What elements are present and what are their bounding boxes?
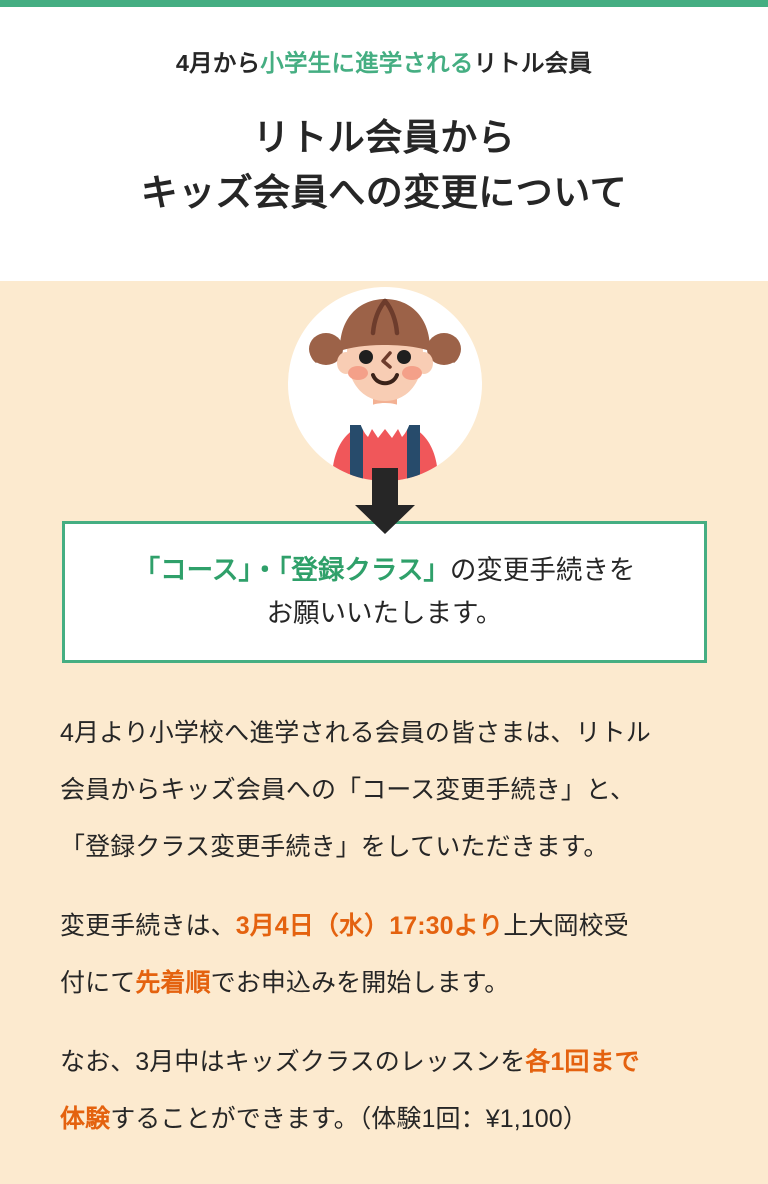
- eyebrow-after: リトル会員: [474, 50, 593, 76]
- callout-text: 「コース」・「登録クラス」の変更手続きを お願いいたします。: [118, 549, 652, 635]
- highlight-first-come: 先着順: [135, 969, 210, 997]
- page-title: リトル会員から キッズ会員への変更について: [0, 111, 768, 221]
- paragraph-application-start: 変更手続きは、3月4日（水）17:30より上大岡校受 付にて先着順でお申込みを開…: [60, 898, 720, 1012]
- promo-page: 4月から小学生に進学されるリトル会員 リトル会員から キッズ会員への変更について: [0, 0, 768, 1184]
- paragraph-line: 変更手続きは、3月4日（水）17:30より上大岡校受: [60, 898, 720, 955]
- highlight-trial-count: 各1回まで: [525, 1048, 639, 1076]
- top-accent-bar: [0, 0, 768, 7]
- paragraph-line: 4月より小学校へ進学される会員の皆さまは、リトル: [60, 705, 720, 762]
- page-title-line-1: リトル会員から: [0, 111, 768, 166]
- content-section: 「コース」・「登録クラス」の変更手続きを お願いいたします。 4月より小学校へ進…: [0, 281, 768, 1184]
- paragraph-trial-lesson: なお、3月中はキッズクラスのレッスンを各1回まで 体験することができます。（体験…: [60, 1034, 720, 1148]
- text-run: 付にて: [60, 969, 135, 997]
- header-eyebrow: 4月から小学生に進学されるリトル会員: [0, 49, 768, 77]
- avatar-circle: [288, 287, 482, 481]
- text-run: でお申込みを開始します。: [211, 969, 510, 997]
- callout-box: 「コース」・「登録クラス」の変更手続きを お願いいたします。: [62, 521, 707, 663]
- body-copy: 4月より小学校へ進学される会員の皆さまは、リトル 会員からキッズ会員への「コース…: [60, 705, 720, 1148]
- callout-line-2: お願いいたします。: [134, 592, 636, 635]
- girl-student-avatar-icon: [288, 287, 482, 481]
- text-run: 「登録クラス変更手続き」をしていただきます。: [60, 833, 608, 861]
- paragraph-procedure-overview: 4月より小学校へ進学される会員の皆さまは、リトル 会員からキッズ会員への「コース…: [60, 705, 720, 876]
- text-run: することができます。（体験1回：¥1,100）: [110, 1105, 588, 1133]
- avatar: [288, 287, 482, 481]
- eyebrow-before: 4月から: [176, 50, 260, 76]
- text-run: 上大岡校受: [503, 912, 629, 940]
- text-run: なお、3月中はキッズクラスのレッスンを: [60, 1048, 525, 1076]
- paragraph-line: 体験することができます。（体験1回：¥1,100）: [60, 1091, 720, 1148]
- paragraph-line: 「登録クラス変更手続き」をしていただきます。: [60, 819, 720, 876]
- callout-line-1: 「コース」・「登録クラス」の変更手続きを: [134, 549, 636, 592]
- highlight-datetime: 3月4日（水）17:30より: [236, 912, 504, 940]
- paragraph-line: なお、3月中はキッズクラスのレッスンを各1回まで: [60, 1034, 720, 1091]
- text-run: 会員からキッズ会員への「コース変更手続き」と、: [60, 776, 635, 804]
- down-arrow-icon: [355, 468, 415, 534]
- paragraph-line: 会員からキッズ会員への「コース変更手続き」と、: [60, 762, 720, 819]
- paragraph-line: 付にて先着順でお申込みを開始します。: [60, 955, 720, 1012]
- highlight-trial-word: 体験: [60, 1105, 110, 1133]
- page-header: 4月から小学生に進学されるリトル会員 リトル会員から キッズ会員への変更について: [0, 7, 768, 281]
- eyebrow-highlight: 小学生に進学される: [260, 50, 473, 76]
- text-run: 変更手続きは、: [60, 912, 236, 940]
- text-run: 4月より小学校へ進学される会員の皆さまは、リトル: [60, 719, 651, 747]
- callout-line-1-tail: の変更手続きを: [450, 555, 636, 585]
- callout-emphasis: 「コース」・「登録クラス」: [134, 555, 450, 585]
- page-title-line-2: キッズ会員への変更について: [0, 166, 768, 221]
